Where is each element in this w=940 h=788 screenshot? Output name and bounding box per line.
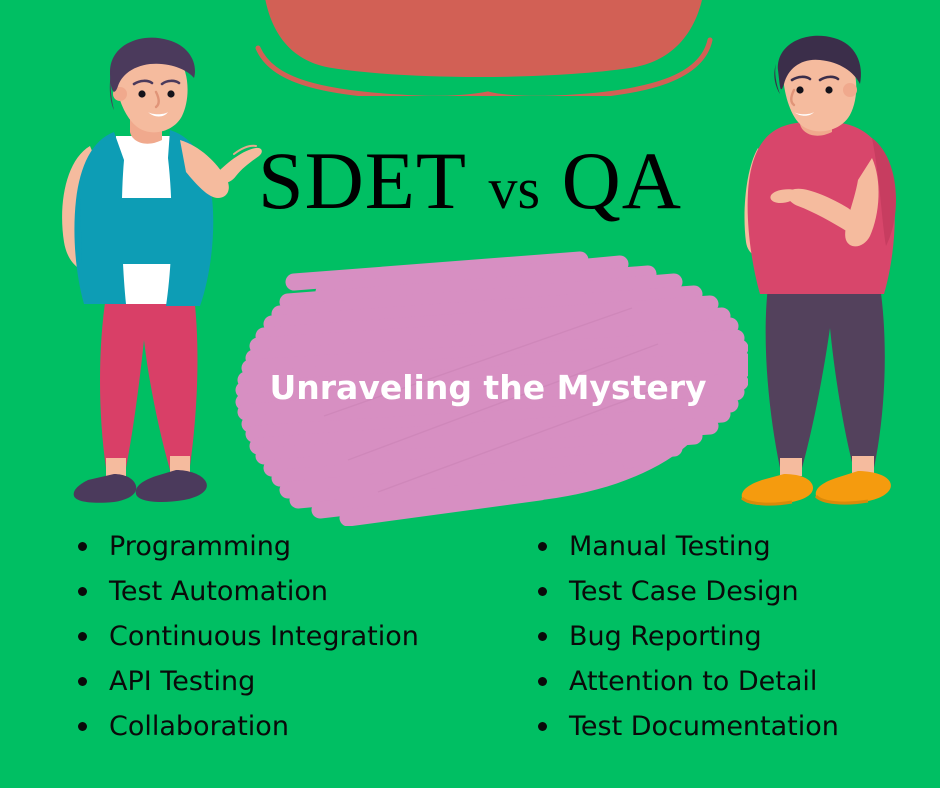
top-salmon-blob [248, 0, 718, 96]
list-item-label: Test Case Design [569, 576, 799, 607]
left-ankle-a [106, 458, 126, 476]
qa-skills-list: Manual Testing Test Case Design Bug Repo… [538, 524, 940, 749]
poster-canvas: SDET vs QA [0, 0, 940, 788]
bullet-icon [538, 677, 547, 686]
left-shoe-a [74, 474, 137, 503]
title-vs: vs [488, 156, 540, 221]
right-ankle-a [780, 458, 802, 476]
left-eye-a [138, 90, 145, 97]
poster-subtitle: Unraveling the Mystery [228, 368, 748, 408]
right-shoe-a [742, 474, 813, 505]
left-pants [100, 296, 197, 477]
list-item-label: Attention to Detail [569, 666, 817, 697]
left-shoe-b [136, 470, 207, 502]
bullet-icon [538, 722, 547, 731]
poster-title: SDET vs QA [0, 140, 940, 222]
right-shoe-b [816, 471, 891, 504]
illustration-person-right [722, 28, 932, 508]
left-eye-b [167, 90, 174, 97]
bullet-icon [538, 587, 547, 596]
title-sdet: SDET [258, 135, 467, 226]
illustration-person-left [30, 28, 270, 508]
list-item-label: Test Documentation [569, 711, 839, 742]
list-item: Bug Reporting [538, 614, 940, 659]
list-item-label: Bug Reporting [569, 621, 762, 652]
skills-column-right: Manual Testing Test Case Design Bug Repo… [0, 524, 940, 749]
list-item: Test Documentation [538, 704, 940, 749]
right-eye-a [796, 86, 803, 93]
blob-fill [262, 0, 706, 77]
title-qa: QA [562, 135, 682, 226]
bullet-icon [538, 632, 547, 641]
right-ear [843, 83, 857, 97]
right-pants [766, 286, 885, 478]
list-item: Test Case Design [538, 569, 940, 614]
list-item: Manual Testing [538, 524, 940, 569]
bullet-icon [538, 542, 547, 551]
list-item: Attention to Detail [538, 659, 940, 704]
list-item-label: Manual Testing [569, 531, 771, 562]
skills-lists: Programming Test Automation Continuous I… [0, 524, 940, 774]
right-eye-b [825, 86, 832, 93]
